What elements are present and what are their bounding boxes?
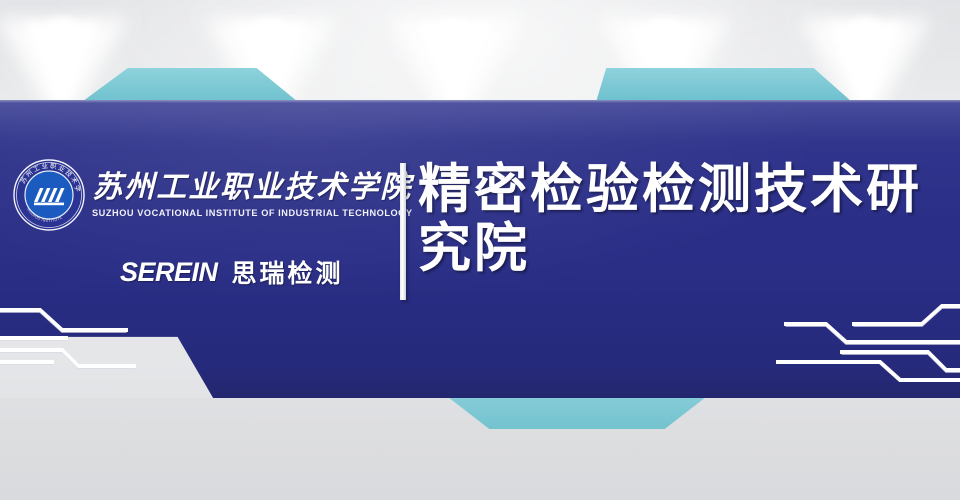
university-name-en: SUZHOU VOCATIONAL INSTITUTE OF INDUSTRIA…	[92, 208, 413, 218]
board-top-highlight	[0, 100, 960, 103]
institute-title: 精密检验检测技术研究院	[418, 160, 948, 279]
university-name-group: 苏州工业职业技术学院 SUZHOU VOCATIONAL INSTITUTE O…	[92, 172, 413, 217]
teal-panel-bottom	[448, 397, 706, 429]
vertical-divider-bar	[400, 163, 406, 300]
suzhou-institute-emblem-icon: 苏州工业职业技术学院 SUZHOU INSTITUTE	[12, 158, 86, 232]
company-logo-row: SEREIN 思瑞检测	[120, 254, 344, 290]
company-name-en: SEREIN	[120, 257, 218, 288]
teal-panel-top-right	[596, 68, 852, 102]
university-name-cn: 苏州工业职业技术学院	[92, 172, 412, 204]
logo-block: 苏州工业职业技术学院 SUZHOU INSTITUTE	[12, 158, 394, 298]
university-logo-row: 苏州工业职业技术学院 SUZHOU INSTITUTE	[12, 158, 413, 232]
company-name-cn: 思瑞检测	[232, 254, 344, 290]
signage-scene: 苏州工业职业技术学院 SUZHOU INSTITUTE	[0, 0, 960, 500]
